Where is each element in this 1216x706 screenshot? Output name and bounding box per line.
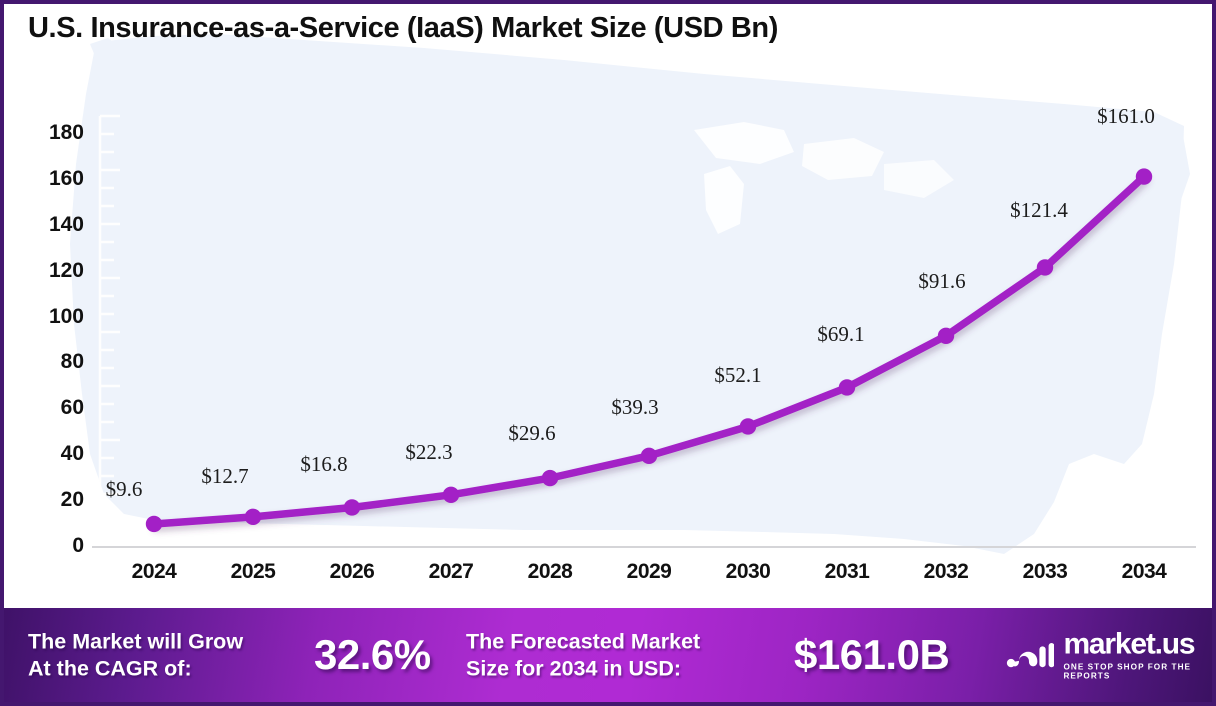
x-axis-tick-label: 2025 bbox=[203, 560, 303, 584]
data-point-marker[interactable] bbox=[245, 509, 261, 525]
x-axis-tick-label: 2030 bbox=[698, 560, 798, 584]
data-point-value-label: $9.6 bbox=[106, 477, 143, 502]
x-axis-tick-label: 2031 bbox=[797, 560, 897, 584]
x-axis-tick-label: 2033 bbox=[995, 560, 1095, 584]
market-us-logo-icon bbox=[1006, 636, 1054, 674]
cagr-caption-line2: At the CAGR of: bbox=[28, 655, 243, 682]
y-axis-tick-label: 40 bbox=[12, 442, 84, 466]
x-axis-baseline bbox=[92, 546, 1196, 548]
data-point-value-label: $22.3 bbox=[405, 440, 452, 465]
data-point-value-label: $121.4 bbox=[1010, 198, 1068, 223]
cagr-caption-line1: The Market will Grow bbox=[28, 628, 243, 655]
data-point-value-label: $91.6 bbox=[918, 269, 965, 294]
data-point-marker[interactable] bbox=[1037, 259, 1053, 275]
x-axis-tick-label: 2034 bbox=[1094, 560, 1194, 584]
x-axis-tick-label: 2032 bbox=[896, 560, 996, 584]
y-axis-tick-label: 160 bbox=[12, 167, 84, 191]
footer-summary-bar: The Market will Grow At the CAGR of: 32.… bbox=[4, 608, 1212, 702]
data-point-marker[interactable] bbox=[542, 470, 558, 486]
x-axis-tick-label: 2028 bbox=[500, 560, 600, 584]
y-axis-tick-label: 100 bbox=[12, 305, 84, 329]
x-axis: 2024202520262027202820292030203120322033… bbox=[4, 560, 1212, 600]
data-point-marker[interactable] bbox=[839, 379, 855, 395]
forecast-caption-line2: Size for 2034 in USD: bbox=[466, 655, 700, 682]
brand-tagline: ONE STOP SHOP FOR THE REPORTS bbox=[1063, 663, 1212, 681]
cagr-value: 32.6% bbox=[314, 631, 431, 679]
x-axis-tick-label: 2024 bbox=[104, 560, 204, 584]
y-axis-tick-label: 0 bbox=[12, 534, 84, 558]
cagr-caption: The Market will Grow At the CAGR of: bbox=[28, 628, 243, 681]
page-title: U.S. Insurance-as-a-Service (IaaS) Marke… bbox=[28, 12, 778, 45]
y-axis-tick-label: 140 bbox=[12, 213, 84, 237]
forecast-size-value: $161.0B bbox=[794, 631, 949, 679]
x-axis-tick-label: 2027 bbox=[401, 560, 501, 584]
data-point-value-label: $39.3 bbox=[611, 395, 658, 420]
y-axis-tick-label: 60 bbox=[12, 396, 84, 420]
y-axis: 020406080100120140160180 bbox=[4, 4, 84, 610]
y-axis-tick-label: 180 bbox=[12, 121, 84, 145]
data-point-marker[interactable] bbox=[641, 448, 657, 464]
data-point-value-label: $29.6 bbox=[508, 421, 555, 446]
infographic-card: U.S. Insurance-as-a-Service (IaaS) Marke… bbox=[0, 0, 1216, 706]
brand-wordmark: market.us ONE STOP SHOP FOR THE REPORTS bbox=[1063, 630, 1212, 681]
x-axis-tick-label: 2026 bbox=[302, 560, 402, 584]
x-axis-tick-label: 2029 bbox=[599, 560, 699, 584]
data-point-value-label: $16.8 bbox=[300, 452, 347, 477]
data-point-marker[interactable] bbox=[443, 487, 459, 503]
data-point-marker[interactable] bbox=[938, 328, 954, 344]
data-point-value-label: $161.0 bbox=[1097, 104, 1155, 129]
data-point-marker[interactable] bbox=[146, 516, 162, 532]
data-point-value-label: $52.1 bbox=[714, 363, 761, 388]
data-point-marker[interactable] bbox=[344, 499, 360, 515]
y-axis-tick-label: 20 bbox=[12, 488, 84, 512]
data-point-marker[interactable] bbox=[1136, 168, 1152, 184]
brand-logo[interactable]: market.us ONE STOP SHOP FOR THE REPORTS bbox=[1006, 630, 1212, 681]
data-point-marker[interactable] bbox=[740, 418, 756, 434]
y-axis-tick-label: 80 bbox=[12, 350, 84, 374]
data-point-value-label: $69.1 bbox=[817, 322, 864, 347]
series-markers bbox=[146, 168, 1152, 532]
forecast-caption-line1: The Forecasted Market bbox=[466, 628, 700, 655]
brand-name: market.us bbox=[1063, 630, 1212, 660]
forecast-size-caption: The Forecasted Market Size for 2034 in U… bbox=[466, 628, 700, 681]
line-chart-plot bbox=[4, 4, 1212, 610]
y-axis-tick-label: 120 bbox=[12, 259, 84, 283]
data-point-value-label: $12.7 bbox=[201, 464, 248, 489]
